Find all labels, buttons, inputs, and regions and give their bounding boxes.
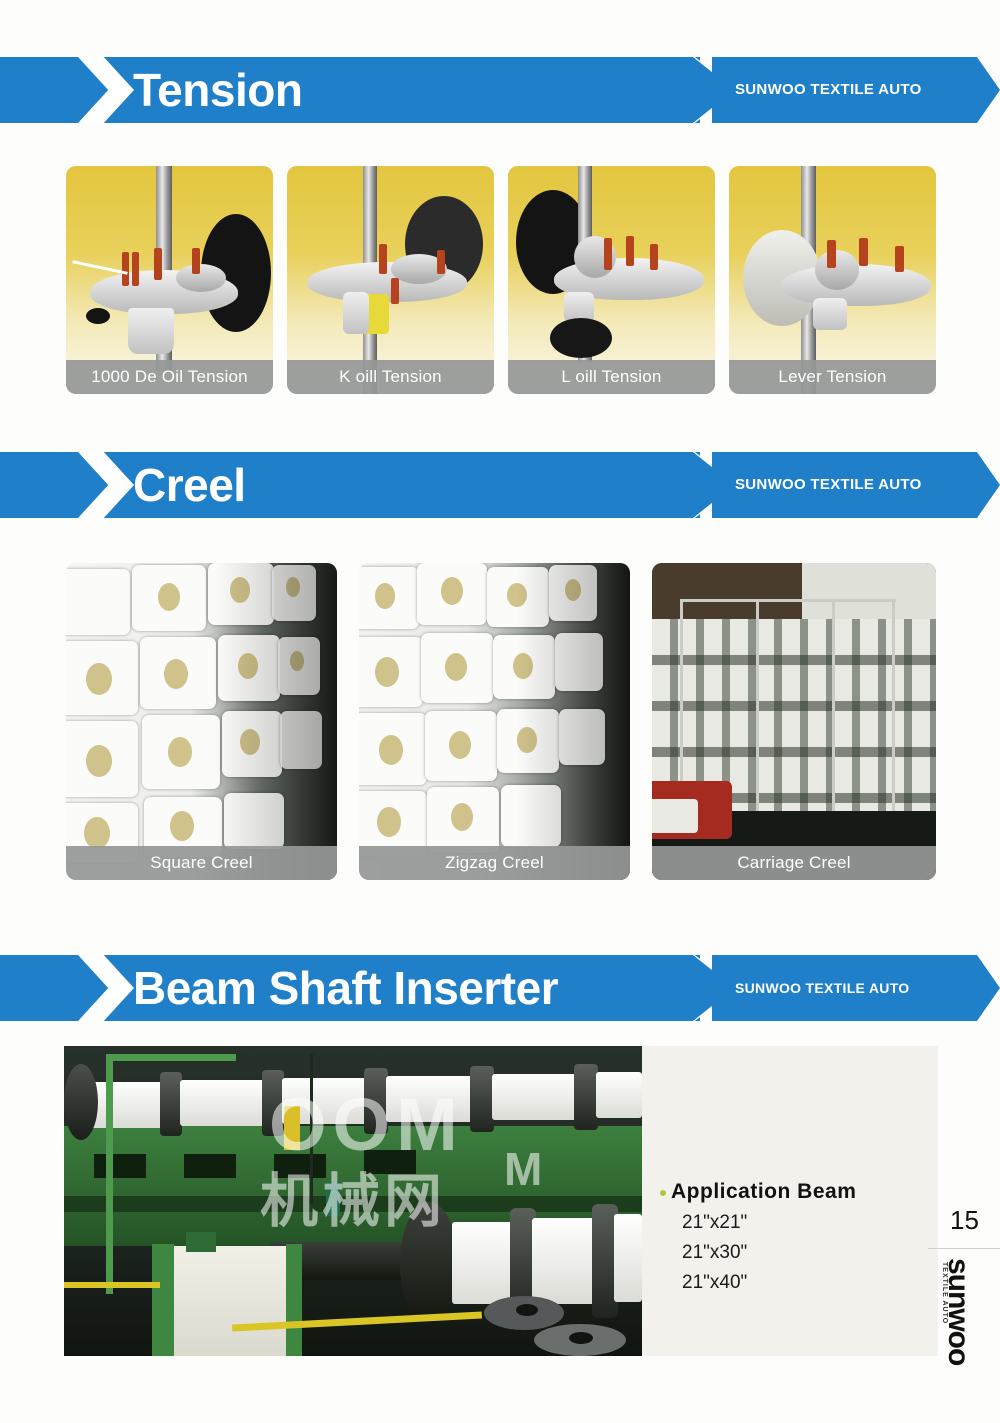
section-title: Beam Shaft Inserter — [133, 955, 558, 1021]
product-caption: K oill Tension — [287, 360, 494, 394]
product-card[interactable]: Zigzag Creel — [359, 563, 630, 880]
brand-logo-subtext: TEXTILE AUTO — [941, 1262, 948, 1324]
product-caption: Lever Tension — [729, 360, 936, 394]
product-caption: Square Creel — [66, 846, 337, 880]
section-title: Tension — [133, 57, 302, 123]
product-card[interactable]: K oill Tension — [287, 166, 494, 394]
product-card[interactable]: L oill Tension — [508, 166, 715, 394]
banner-brand-label: SUNWOO TEXTILE AUTO — [735, 955, 909, 1021]
spec-heading: Application Beam — [671, 1180, 856, 1204]
product-caption: Carriage Creel — [652, 846, 936, 880]
product-photo-beam-shaft-inserter[interactable]: OOM 机械网 M — [64, 1046, 642, 1356]
section-banner-beam-shaft-inserter: Beam Shaft Inserter SUNWOO TEXTILE AUTO — [0, 955, 1000, 1021]
banner-brand-label: SUNWOO TEXTILE AUTO — [735, 452, 922, 518]
spec-value: 21"x21" — [682, 1212, 747, 1234]
product-photo-square-creel — [66, 563, 337, 880]
section-banner-creel: Creel SUNWOO TEXTILE AUTO — [0, 452, 1000, 518]
catalog-page: Tension SUNWOO TEXTILE AUTO 1000 De Oil … — [0, 0, 1000, 1423]
product-photo-carriage-creel — [652, 563, 936, 880]
product-caption: 1000 De Oil Tension — [66, 360, 273, 394]
section-title: Creel — [133, 452, 246, 518]
product-card[interactable]: Lever Tension — [729, 166, 936, 394]
product-caption: L oill Tension — [508, 360, 715, 394]
product-card[interactable]: 1000 De Oil Tension — [66, 166, 273, 394]
product-caption: Zigzag Creel — [359, 846, 630, 880]
product-card[interactable]: Square Creel — [66, 563, 337, 880]
section-banner-tension: Tension SUNWOO TEXTILE AUTO — [0, 57, 1000, 123]
footer-divider — [928, 1248, 1000, 1249]
bullet-icon — [660, 1190, 666, 1196]
product-card[interactable]: Carriage Creel — [652, 563, 936, 880]
page-number: 15 — [950, 1205, 979, 1236]
spec-value: 21"x30" — [682, 1242, 747, 1264]
spec-value: 21"x40" — [682, 1272, 747, 1294]
banner-brand-label: SUNWOO TEXTILE AUTO — [735, 57, 922, 123]
product-photo-zigzag-creel — [359, 563, 630, 880]
